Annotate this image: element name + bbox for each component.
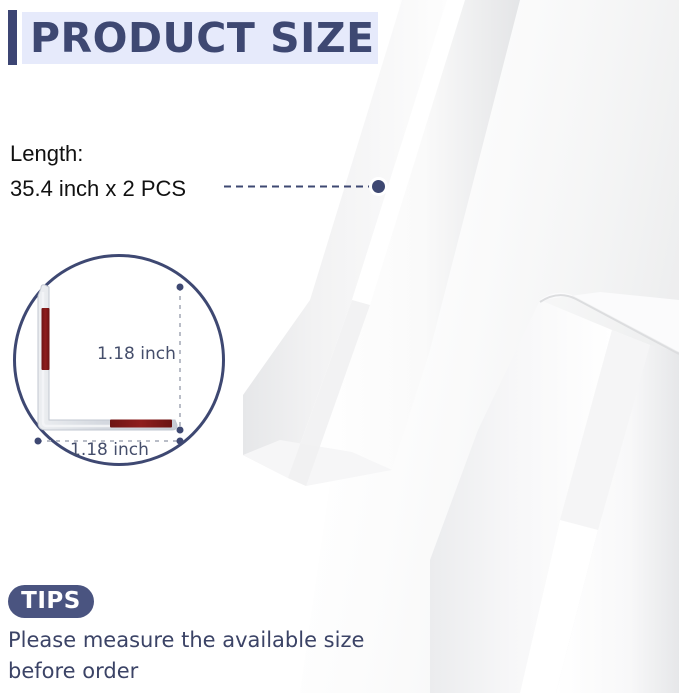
length-value: 35.4 inch x 2 PCS [10,171,186,206]
corner-guard-strip-upper [243,0,520,486]
dimension-dot-top [177,284,184,291]
leader-endpoint-dot [372,180,385,193]
dimension-label-horizontal: 1.18 inch [70,440,149,460]
dimension-dot-bottom-right2 [177,438,184,445]
tips-badge: TIPS [8,585,94,618]
dimension-dot-bottom-right [177,427,184,434]
adhesive-strip-horizontal [110,420,172,428]
adhesive-strip-vertical [42,308,50,370]
dimension-dot-bottom-left [35,438,42,445]
leader-line [224,185,376,188]
page-title: PRODUCT SIZE [30,13,375,63]
length-label: Length: [10,136,186,171]
dimension-label-vertical: 1.18 inch [97,344,176,364]
length-info: Length: 35.4 inch x 2 PCS [10,136,186,206]
tips-text: Please measure the available size before… [8,625,368,687]
corner-guard-strip-lower [430,292,679,693]
title-accent-bar [8,10,17,65]
product-size-infographic: PRODUCT SIZE Length: 35.4 inch x 2 PCS [0,0,679,693]
